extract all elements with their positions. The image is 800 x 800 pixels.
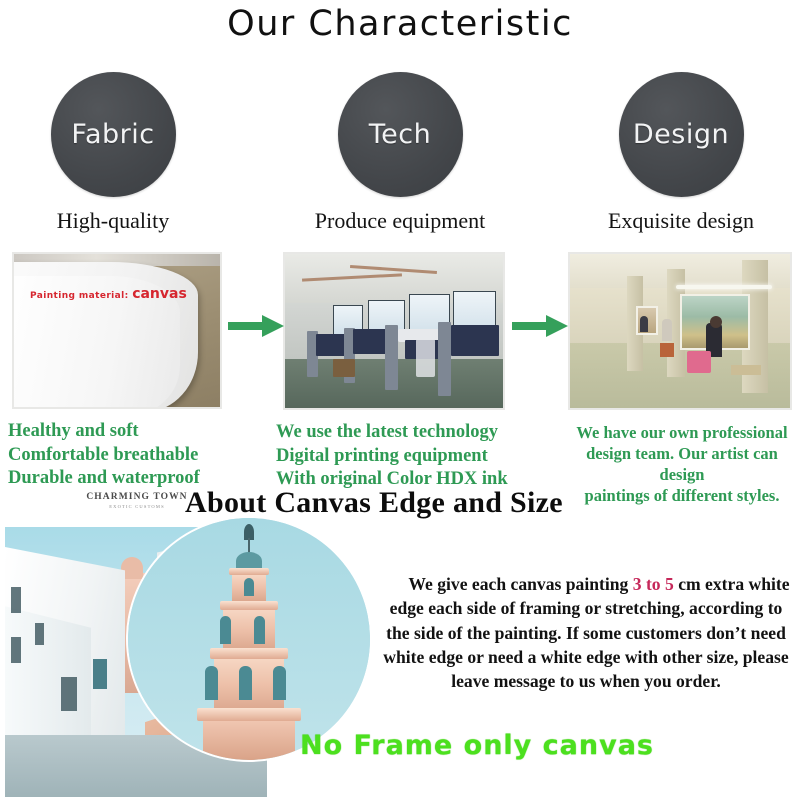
studio-photo-art: [570, 254, 790, 408]
brand-name: CHARMING TOWN: [78, 492, 196, 502]
photo-printing-factory: [283, 252, 505, 410]
feature-design: Design Exquisite design: [548, 72, 800, 234]
section-title: About Canvas Edge and Size: [185, 486, 563, 520]
overlay-small-text: Painting material:: [30, 291, 129, 301]
feature-caption: Exquisite design: [548, 208, 800, 234]
canvas-photo-art: [14, 254, 220, 407]
feature-caption: High-quality: [0, 208, 246, 234]
feature-photo-caption-design: We have our own professional design team…: [570, 422, 794, 506]
canvas-edge-description: We give each canvas painting 3 to 5 cm e…: [380, 572, 792, 693]
desc-highlight: 3 to 5: [633, 574, 674, 594]
photo-canvas-material: Painting material: canvas: [12, 252, 222, 409]
feature-photos-row: Painting material: canvas: [0, 252, 800, 412]
overlay-big-text: canvas: [132, 286, 187, 302]
photo-tower-zoom-inset: [128, 518, 370, 760]
feature-fabric: Fabric High-quality: [0, 72, 246, 234]
no-frame-slogan: No Frame only canvas: [300, 730, 654, 761]
circle-badge-fabric: Fabric: [51, 72, 176, 197]
feature-tech: Tech Produce equipment: [267, 72, 533, 234]
brand-tagline: EXOTIC CUSTOMS: [78, 504, 196, 509]
canvas-photo-overlay-text: Painting material: canvas: [30, 286, 187, 302]
arrow-right-icon: [512, 313, 568, 339]
circle-label: Fabric: [71, 119, 154, 150]
feature-photo-caption-tech: We use the latest technology Digital pri…: [276, 421, 508, 492]
factory-photo-art: [285, 254, 503, 408]
circle-badge-tech: Tech: [338, 72, 463, 197]
page-title: Our Characteristic: [0, 4, 800, 44]
circle-badge-design: Design: [619, 72, 744, 197]
circle-label: Design: [633, 119, 729, 150]
photo-art-studio: [568, 252, 792, 410]
desc-part-1: We give each canvas painting: [408, 574, 632, 594]
brand-logo: CHARMING TOWN EXOTIC CUSTOMS: [78, 492, 196, 509]
feature-photo-caption-fabric: Healthy and soft Comfortable breathable …: [8, 420, 200, 491]
circle-label: Tech: [369, 119, 431, 150]
arrow-right-icon: [228, 313, 284, 339]
promo-page: Our Characteristic Fabric High-quality T…: [0, 0, 800, 800]
feature-circles-row: Fabric High-quality Tech Produce equipme…: [0, 72, 800, 242]
feature-caption: Produce equipment: [267, 208, 533, 234]
